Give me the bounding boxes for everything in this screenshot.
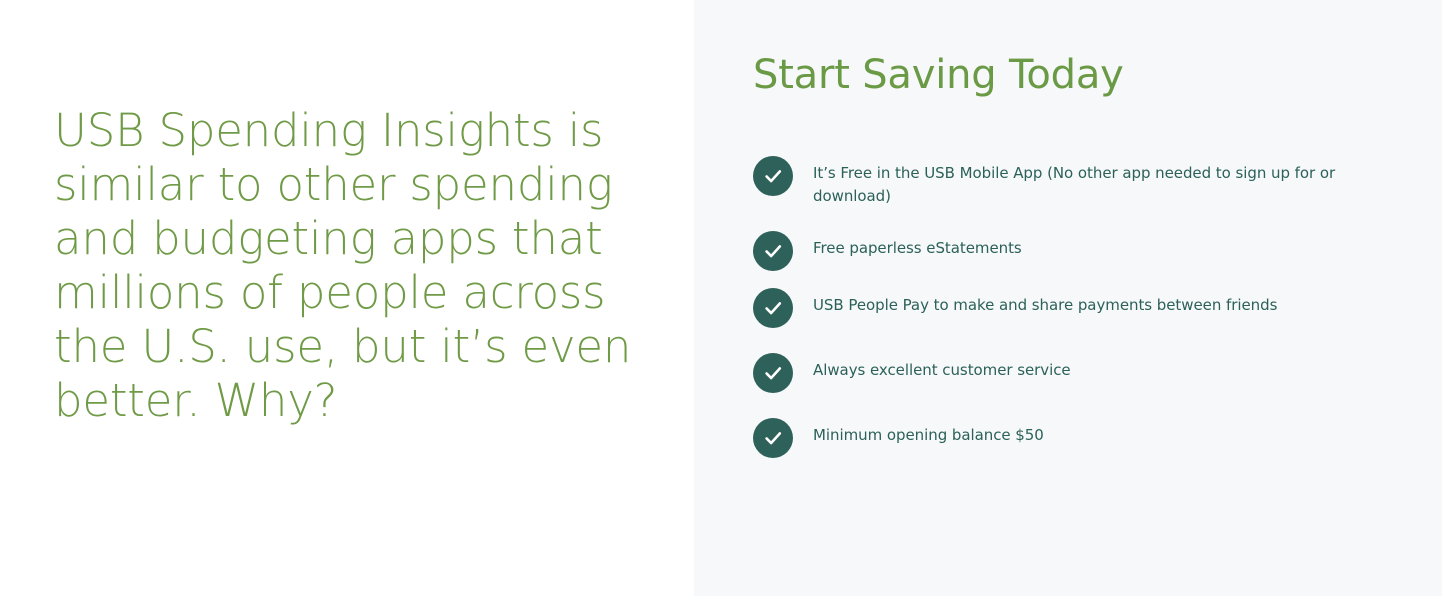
check-icon	[753, 288, 793, 328]
slide-root: USB Spending Insights is similar to othe…	[0, 0, 1442, 596]
list-item: It’s Free in the USB Mobile App (No othe…	[753, 155, 1413, 208]
left-panel: USB Spending Insights is similar to othe…	[0, 0, 694, 596]
list-item: USB People Pay to make and share payment…	[753, 287, 1413, 328]
benefit-label: Minimum opening balance $50	[813, 417, 1044, 447]
list-item: Always excellent customer service	[753, 352, 1413, 393]
right-panel: Start Saving Today It’s Free in the USB …	[694, 0, 1442, 596]
page-title: USB Spending Insights is similar to othe…	[54, 104, 654, 428]
benefits-list: It’s Free in the USB Mobile App (No othe…	[753, 155, 1413, 458]
check-icon	[753, 418, 793, 458]
benefit-label: Always excellent customer service	[813, 352, 1071, 382]
panel-heading: Start Saving Today	[753, 51, 1124, 99]
list-item: Free paperless eStatements	[753, 230, 1413, 271]
check-icon	[753, 231, 793, 271]
check-icon	[753, 353, 793, 393]
benefit-label: It’s Free in the USB Mobile App (No othe…	[813, 155, 1379, 208]
benefit-label: Free paperless eStatements	[813, 230, 1022, 260]
list-item: Minimum opening balance $50	[753, 417, 1413, 458]
benefit-label: USB People Pay to make and share payment…	[813, 287, 1277, 317]
check-icon	[753, 156, 793, 196]
